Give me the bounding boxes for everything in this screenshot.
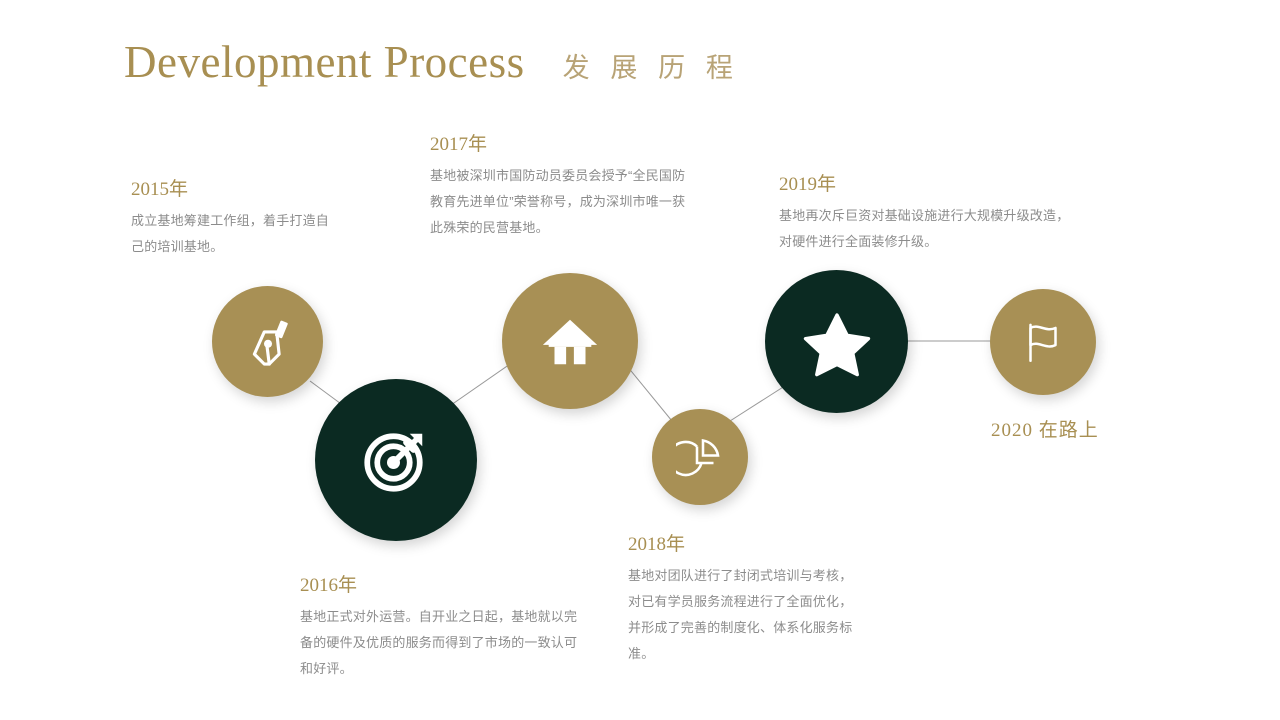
pie-chart-icon	[676, 433, 724, 481]
milestone-desc-2015: 成立基地筹建工作组，着手打造自己的培训基地。	[131, 208, 341, 260]
milestone-text-2019: 2019年 基地再次斥巨资对基础设施进行大规模升级改造，对硬件进行全面装修升级。	[779, 175, 1079, 255]
milestone-desc-2019: 基地再次斥巨资对基础设施进行大规模升级改造，对硬件进行全面装修升级。	[779, 203, 1079, 255]
milestone-text-2018: 2018年 基地对团队进行了封闭式培训与考核，对已有学员服务流程进行了全面优化，…	[628, 535, 858, 667]
milestone-text-2017: 2017年 基地被深圳市国防动员委员会授予“全民国防教育先进单位”荣誉称号，成为…	[430, 135, 698, 241]
page-header: Development Process 发 展 历 程	[124, 40, 740, 85]
page-title: Development Process	[124, 40, 525, 85]
star-icon	[801, 306, 873, 378]
milestone-text-2015: 2015年 成立基地筹建工作组，着手打造自己的培训基地。	[131, 180, 341, 260]
milestone-year-2018: 2018年	[628, 535, 858, 554]
milestone-year-2019: 2019年	[779, 175, 1079, 194]
milestone-desc-2018: 基地对团队进行了封闭式培训与考核，对已有学员服务流程进行了全面优化，并形成了完善…	[628, 563, 858, 667]
milestone-year-2017: 2017年	[430, 135, 698, 154]
milestone-node-2015[interactable]	[212, 286, 323, 397]
home-icon	[539, 310, 601, 372]
milestone-node-2020[interactable]	[990, 289, 1096, 395]
milestone-year-2020: 2020 在路上	[991, 415, 1099, 442]
milestone-node-2016[interactable]	[315, 379, 477, 541]
milestone-node-2019[interactable]	[765, 270, 908, 413]
milestone-node-2017[interactable]	[502, 273, 638, 409]
page-subtitle: 发 展 历 程	[563, 55, 740, 82]
milestone-text-2016: 2016年 基地正式对外运营。自开业之日起，基地就以完备的硬件及优质的服务而得到…	[300, 576, 578, 682]
flag-icon	[1018, 317, 1068, 367]
milestone-node-2018[interactable]	[652, 409, 748, 505]
milestone-year-2016: 2016年	[300, 576, 578, 595]
milestone-year-2015: 2015年	[131, 180, 341, 199]
milestone-desc-2017: 基地被深圳市国防动员委员会授予“全民国防教育先进单位”荣誉称号，成为深圳市唯一获…	[430, 163, 698, 241]
pen-nib-icon	[240, 314, 296, 370]
target-icon	[356, 420, 436, 500]
milestone-desc-2016: 基地正式对外运营。自开业之日起，基地就以完备的硬件及优质的服务而得到了市场的一致…	[300, 604, 578, 682]
